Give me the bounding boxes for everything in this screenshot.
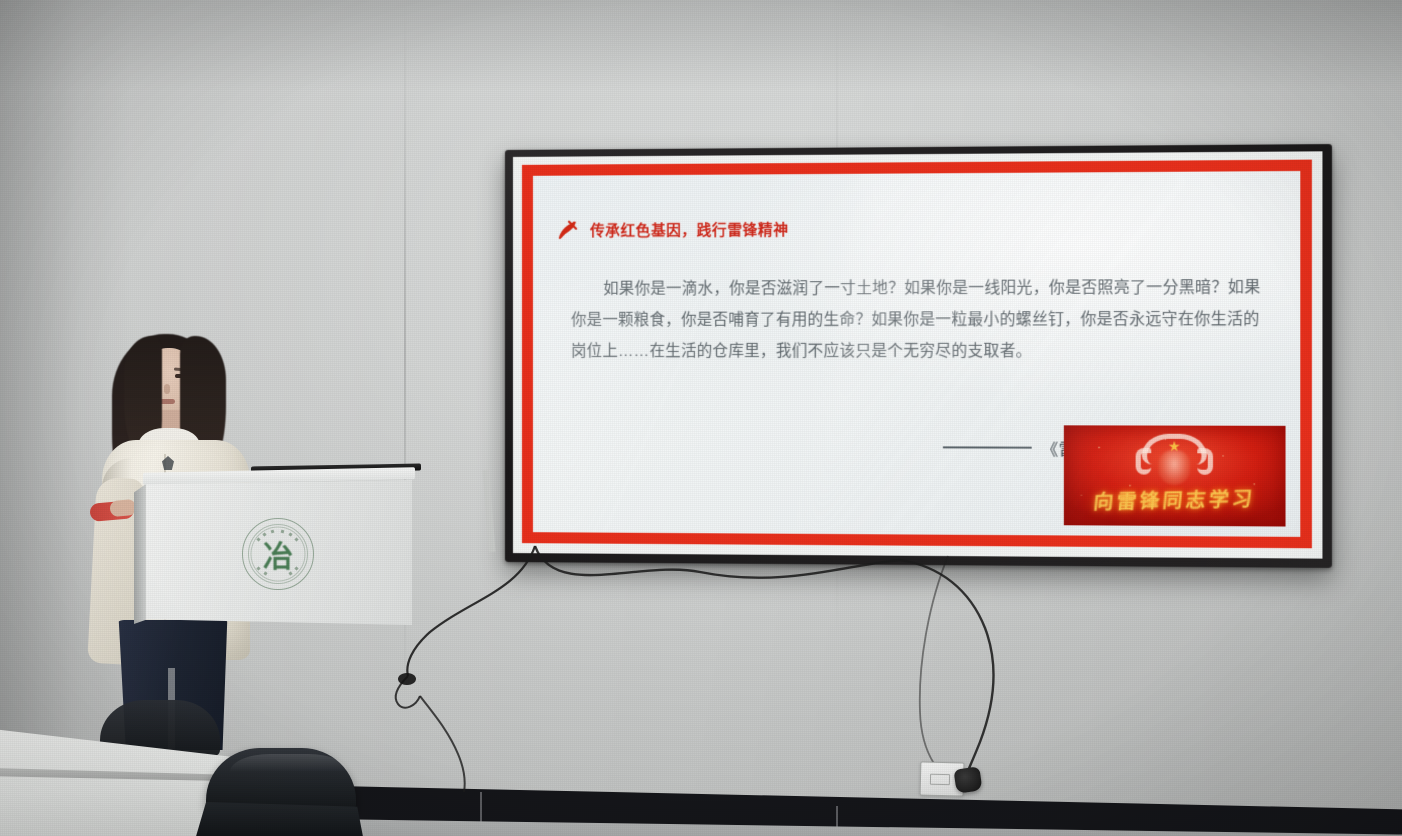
leifeng-banner-image: 向雷锋同志学习 (1064, 425, 1286, 526)
chair-backrest (206, 748, 356, 812)
party-hammer-sickle-icon (555, 218, 581, 242)
display-screen[interactable]: 传承红色基因，践行雷锋精神 如果你是一滴水，你是否滋润了一寸土地？如果你是一线阳… (513, 151, 1322, 558)
lectern-side-panel (134, 484, 146, 624)
chair-seat (196, 802, 364, 836)
baseboard-joint (480, 792, 482, 826)
leifeng-portrait-icon (1136, 432, 1213, 490)
wall-top-shading (0, 0, 1402, 90)
presentation-slide: 传承红色基因，践行雷锋精神 如果你是一滴水，你是否滋润了一寸土地？如果你是一线阳… (513, 151, 1322, 558)
lectern-front-panel: 冶 (146, 480, 412, 625)
slide-red-border: 传承红色基因，践行雷锋精神 如果你是一滴水，你是否滋润了一寸土地？如果你是一线阳… (522, 160, 1312, 549)
hat-earflap-right (1197, 448, 1213, 475)
wall-mounted-display[interactable]: 传承红色基因，践行雷锋精神 如果你是一滴水，你是否滋润了一寸土地？如果你是一线阳… (505, 144, 1332, 568)
hat-earflap-left (1136, 448, 1152, 475)
classroom-presentation-photo: 传承红色基因，践行雷锋精神 如果你是一滴水，你是否滋润了一寸土地？如果你是一线阳… (0, 0, 1402, 836)
classroom-chair (196, 748, 364, 836)
portrait-face (1159, 450, 1190, 485)
crest-glyph: 冶 (263, 532, 293, 576)
attribution-dash (943, 446, 1032, 448)
slide-header: 传承红色基因，践行雷锋精神 (555, 217, 789, 242)
nose (164, 384, 170, 394)
outlet-socket-slot (930, 774, 950, 786)
slide-title: 传承红色基因，践行雷锋精神 (590, 218, 789, 240)
leifeng-calligraphy: 向雷锋同志学习 (1064, 484, 1286, 516)
chair-highlight (230, 754, 348, 772)
lectern: 冶 (143, 470, 415, 625)
university-crest: 冶 (242, 518, 314, 590)
slide-body-text: 如果你是一滴水，你是否滋润了一寸土地？如果你是一线阳光，你是否照亮了一分黑暗？如… (571, 272, 1264, 367)
